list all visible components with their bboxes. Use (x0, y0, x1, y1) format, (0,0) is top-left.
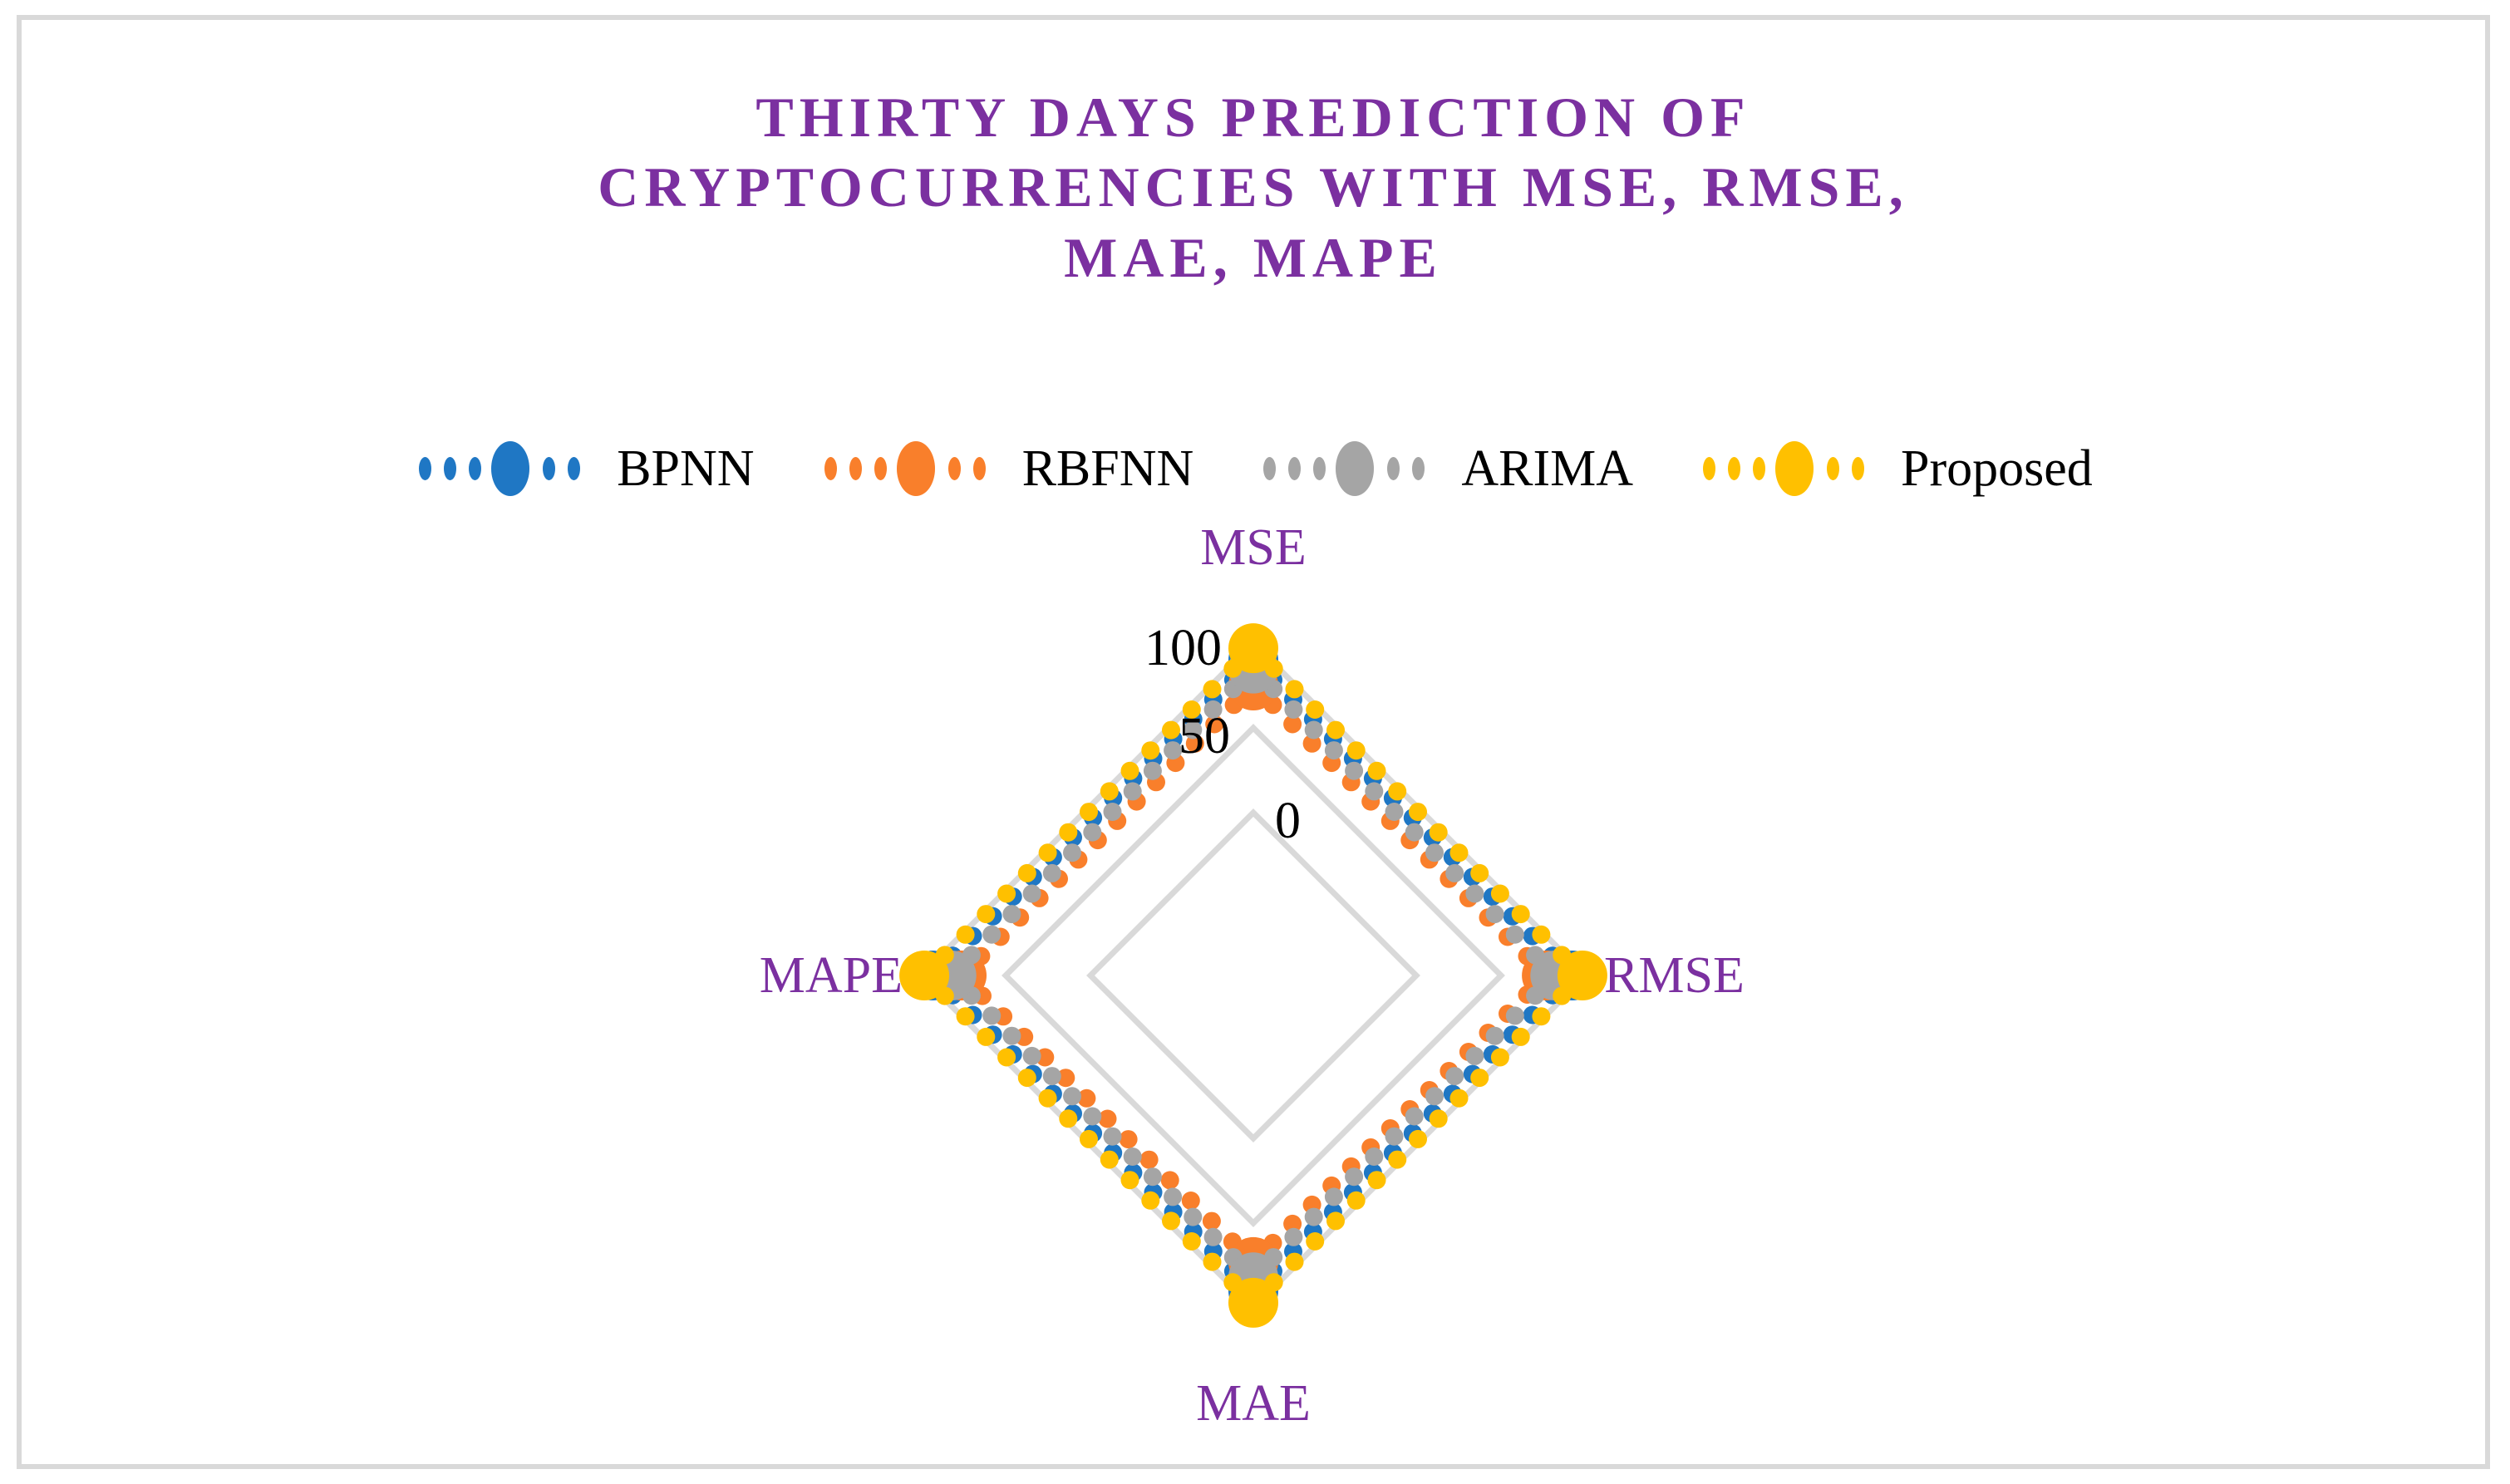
series-dot (1506, 926, 1524, 944)
axis-label-mae: MAE (1196, 1378, 1311, 1429)
data-point-proposed-mse[interactable] (1228, 623, 1278, 673)
series-dot (1388, 782, 1406, 800)
series-dot (1345, 1167, 1363, 1186)
series-dot (1405, 823, 1424, 842)
gridline-ring-100 (921, 643, 1586, 1308)
series-dot (1023, 885, 1041, 903)
series-dot (1002, 905, 1021, 923)
radial-tick-50: 50 (1179, 710, 1230, 762)
series-dot (1532, 926, 1550, 944)
page-title: THIRTY DAYS PREDICTION OF CRYPTOCURRENCI… (22, 82, 2485, 292)
series-dot (1083, 823, 1101, 842)
gridline-ring-50 (1006, 728, 1501, 1223)
gridline-ring-0 (1090, 813, 1416, 1138)
series-dot (1184, 1208, 1202, 1226)
series-dot (1164, 1187, 1182, 1206)
chart-legend: BPNNRBFNNARIMAProposed (22, 440, 2485, 498)
legend-item-rbfnn[interactable]: RBFNN (819, 440, 1194, 498)
series-dot (1347, 1192, 1366, 1210)
series-dot (1425, 843, 1444, 862)
series-dot (1385, 803, 1404, 821)
radar-plot-area: MSE RMSE MAE MAPE 100 50 0 (22, 552, 2485, 1424)
series-dot (1326, 1211, 1345, 1230)
series-dot (1141, 1192, 1159, 1210)
series-dot (1162, 1211, 1180, 1230)
series-dot (1104, 1128, 1122, 1146)
series-dot (1083, 1108, 1101, 1126)
legend-label: RBFNN (1022, 443, 1194, 494)
series-dot (1368, 1171, 1386, 1189)
series-dot (1305, 1208, 1323, 1226)
legend-label: BPNN (617, 443, 754, 494)
series-dot (1039, 1089, 1057, 1108)
series-dot (1325, 1187, 1343, 1206)
series-dot (1405, 1108, 1424, 1126)
radial-tick-0: 0 (1275, 795, 1301, 847)
series-dot (997, 1049, 1016, 1067)
series-dot (1120, 1130, 1138, 1148)
series-dot (977, 1028, 995, 1046)
series-dot (1470, 864, 1489, 882)
series-dot (1365, 782, 1383, 800)
series-dot (1368, 762, 1386, 780)
series-dot (1465, 1047, 1484, 1065)
legend-item-arima[interactable]: ARIMA (1258, 440, 1633, 498)
series-dot (1080, 803, 1098, 821)
series-dot (1161, 1171, 1179, 1189)
series-dot (1080, 1130, 1098, 1148)
series-dot (1491, 885, 1509, 903)
series-dot (1204, 1228, 1223, 1246)
data-point-proposed-rmse[interactable] (1558, 951, 1607, 1000)
series-dot (1043, 1067, 1061, 1085)
series-dot (1445, 864, 1464, 882)
legend-item-bpnn[interactable]: BPNN (414, 440, 754, 498)
series-dot (1512, 905, 1530, 923)
series-dot (982, 926, 1001, 944)
series-dot (1002, 1027, 1021, 1045)
series-dot (1284, 1228, 1302, 1246)
series-dot (1124, 1147, 1142, 1166)
axis-label-mse: MSE (1200, 522, 1306, 573)
series-dot (1124, 782, 1142, 800)
series-dot (1326, 721, 1345, 740)
series-dot (1144, 1167, 1162, 1186)
legend-marker-icon (1258, 440, 1449, 498)
series-dot (957, 1007, 975, 1025)
series-dot (1347, 741, 1366, 759)
series-dot (982, 1006, 1001, 1025)
radial-tick-100: 100 (1144, 622, 1222, 674)
series-dot (1430, 823, 1448, 842)
data-point-proposed-mae[interactable] (1228, 1278, 1278, 1328)
series-dot (1388, 1151, 1406, 1169)
series-dot (1039, 843, 1057, 862)
series-dot (1144, 762, 1162, 780)
legend-marker-icon (1698, 440, 1889, 498)
series-dot (1306, 700, 1324, 719)
series-dot (1104, 803, 1122, 821)
series-dot (1063, 843, 1081, 862)
series-dot (1203, 680, 1222, 698)
series-dot (1512, 1028, 1530, 1046)
series-dot (1141, 741, 1159, 759)
series-bpnn (908, 635, 1597, 1315)
series-dot (1100, 1151, 1119, 1169)
chart-frame: THIRTY DAYS PREDICTION OF CRYPTOCURRENCI… (17, 15, 2490, 1469)
series-dot (977, 905, 995, 923)
data-point-proposed-mape[interactable] (899, 951, 949, 1000)
series-dot (1286, 680, 1304, 698)
series-dot (997, 885, 1016, 903)
series-dot (1450, 843, 1469, 862)
series-dot (1486, 1027, 1504, 1045)
series-dot (1059, 1109, 1077, 1128)
series-dot (1121, 762, 1139, 780)
series-dot (1365, 1147, 1383, 1166)
series-dot (1023, 1047, 1041, 1065)
legend-item-proposed[interactable]: Proposed (1698, 440, 2093, 498)
legend-label: Proposed (1901, 443, 2093, 494)
series-dot (957, 926, 975, 944)
series-dot (1100, 782, 1119, 800)
legend-marker-icon (819, 440, 1011, 498)
series-dot (1203, 1212, 1221, 1231)
series-dot (1325, 741, 1343, 759)
series-dot (1183, 1232, 1201, 1251)
series-dot (1305, 721, 1323, 740)
axis-label-mape: MAPE (760, 950, 903, 1001)
series-dot (1345, 762, 1363, 780)
series-dot (1491, 1049, 1509, 1067)
series-dot (1506, 1006, 1524, 1025)
series-dot (1425, 1087, 1444, 1105)
series-dot (1284, 700, 1302, 719)
series-dot (1121, 1171, 1139, 1189)
series-dot (1162, 721, 1180, 740)
series-dot (1445, 1067, 1464, 1085)
axis-label-rmse: RMSE (1604, 950, 1745, 1001)
series-arima (927, 644, 1581, 1303)
radar-gridlines (921, 643, 1586, 1308)
series-dot (1018, 864, 1036, 882)
series-dot (1532, 1007, 1550, 1025)
series-dot (1043, 864, 1061, 882)
series-dot (1286, 1253, 1304, 1271)
series-dot (1465, 885, 1484, 903)
series-dot (1470, 1069, 1489, 1087)
legend-marker-icon (414, 440, 605, 498)
series-rbfnn (937, 661, 1572, 1287)
series-dot (1385, 1128, 1404, 1146)
series-dot (1182, 1192, 1200, 1210)
series-dot (1450, 1089, 1469, 1108)
series-dot (1409, 803, 1427, 821)
legend-label: ARIMA (1461, 443, 1633, 494)
series-dot (1203, 1253, 1222, 1271)
series-dot (1486, 905, 1504, 923)
series-dot (1306, 1232, 1324, 1251)
chart-page: THIRTY DAYS PREDICTION OF CRYPTOCURRENCI… (0, 0, 2510, 1484)
series-dot (1018, 1069, 1036, 1087)
series-dot (1409, 1130, 1427, 1148)
series-dot (1430, 1109, 1448, 1128)
series-dot (1059, 823, 1077, 842)
series-dot (1063, 1087, 1081, 1105)
series-dot (1140, 1151, 1159, 1169)
